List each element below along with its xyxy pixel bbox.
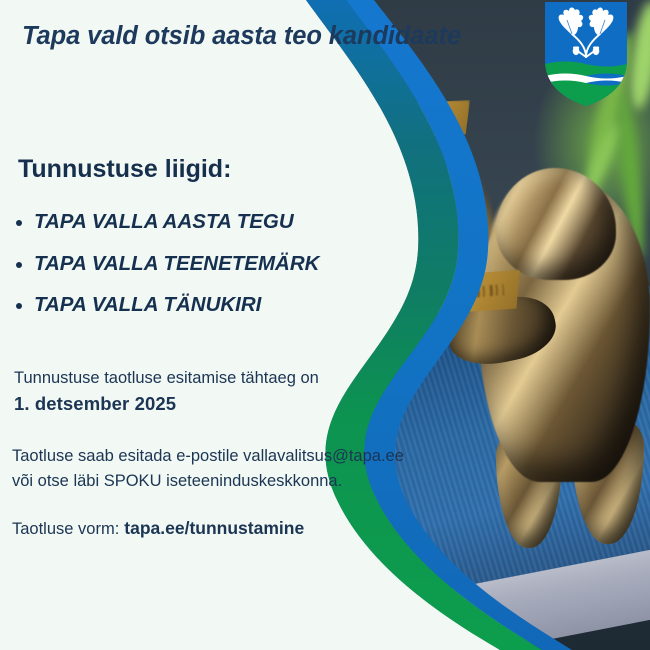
form-url[interactable]: tapa.ee/tunnustamine (124, 518, 304, 538)
deadline-label: Tunnustuse taotluse esitamise tähtaeg on (14, 367, 319, 391)
submission-line-1: Taotluse saab esitada e-postile vallaval… (12, 444, 404, 469)
list-item: TAPA VALLA AASTA TEGU (34, 212, 319, 233)
coat-of-arms-icon (545, 2, 627, 106)
submission-line-2: või otse läbi SPOKU iseteeninduskeskkonn… (12, 469, 404, 494)
form-label: Taotluse vorm: (12, 520, 119, 538)
form-link-block: Taotluse vorm:tapa.ee/tunnustamine (12, 518, 304, 539)
list-item: TAPA VALLA TÄNUKIRI (34, 295, 319, 316)
submission-info: Taotluse saab esitada e-postile vallaval… (12, 444, 404, 494)
list-item: TAPA VALLA TEENETEMÄRK (34, 254, 319, 275)
poster-canvas: Tapa vald otsib aasta teo kandidaate Tun… (0, 0, 650, 650)
gold-plaque (362, 100, 470, 140)
deadline-block: Tunnustuse taotluse esitamise tähtaeg on… (14, 367, 319, 418)
award-types-heading: Tunnustuse liigid: (18, 155, 231, 184)
deadline-date: 1. detsember 2025 (14, 391, 319, 418)
poster-title: Tapa vald otsib aasta teo kandidaate (22, 22, 461, 51)
award-types-list: TAPA VALLA AASTA TEGU TAPA VALLA TEENETE… (8, 212, 319, 337)
